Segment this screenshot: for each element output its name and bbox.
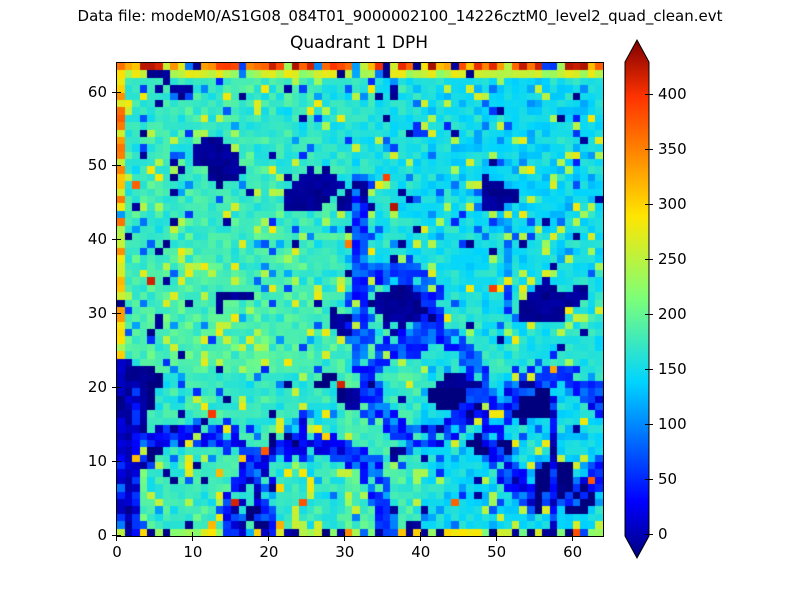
y-tick-mark-inner: [117, 461, 121, 462]
x-tick-mark: [572, 536, 573, 541]
x-tick-label: 20: [244, 544, 294, 561]
y-tick-label: 60: [67, 84, 107, 101]
y-tick-mark-inner: [117, 535, 121, 536]
colorbar-tick-mark: [645, 534, 653, 535]
x-tick-label: 30: [320, 544, 370, 561]
y-tick-label: 0: [67, 527, 107, 544]
colorbar-tick-mark: [645, 314, 653, 315]
x-tick-label: 40: [396, 544, 446, 561]
figure-canvas: Data file: modeM0/AS1G08_084T01_90000021…: [0, 0, 800, 600]
x-tick-label: 50: [472, 544, 522, 561]
colorbar-tick-mark: [645, 204, 653, 205]
y-tick-mark-inner: [117, 239, 121, 240]
dph-heatmap-image[interactable]: [117, 63, 603, 536]
y-tick-label: 30: [67, 305, 107, 322]
x-tick-mark: [420, 536, 421, 541]
x-tick-label: 60: [548, 544, 598, 561]
y-tick-mark-inner: [117, 165, 121, 166]
colorbar-tick-label: 300: [658, 196, 718, 213]
colorbar-tick-label: 400: [658, 86, 718, 103]
colorbar-tick-mark: [645, 369, 653, 370]
colorbar-tick-label: 250: [658, 251, 718, 268]
heatmap-axes[interactable]: 0102030405060 0102030405060: [116, 62, 604, 537]
y-tick-mark-inner: [117, 92, 121, 93]
y-tick-mark-inner: [117, 387, 121, 388]
y-tick-label: 50: [67, 157, 107, 174]
colorbar-tick-mark: [645, 94, 653, 95]
x-tick-mark: [192, 536, 193, 541]
x-tick-mark: [496, 536, 497, 541]
x-tick-mark: [268, 536, 269, 541]
colorbar-tick-mark: [645, 259, 653, 260]
colorbar-tick-label: 350: [658, 141, 718, 158]
colorbar-gradient: [624, 40, 650, 558]
colorbar-tick-label: 200: [658, 306, 718, 323]
x-tick-mark-inner: [192, 532, 193, 536]
colorbar-tick-mark: [645, 424, 653, 425]
y-tick-label: 20: [67, 379, 107, 396]
colorbar-tick-mark: [645, 149, 653, 150]
x-tick-mark-inner: [116, 532, 117, 536]
colorbar-tick-mark: [645, 479, 653, 480]
x-tick-mark: [344, 536, 345, 541]
x-tick-mark: [116, 536, 117, 541]
page-title: Quadrant 1 DPH: [116, 33, 602, 53]
x-tick-label: 0: [92, 544, 142, 561]
data-file-caption: Data file: modeM0/AS1G08_084T01_90000021…: [0, 7, 800, 25]
x-tick-label: 10: [168, 544, 218, 561]
x-tick-mark-inner: [344, 532, 345, 536]
x-tick-mark-inner: [268, 532, 269, 536]
y-tick-mark-inner: [117, 313, 121, 314]
x-tick-mark-inner: [496, 532, 497, 536]
x-tick-mark-inner: [572, 532, 573, 536]
y-tick-label: 40: [67, 231, 107, 248]
y-tick-label: 10: [67, 453, 107, 470]
x-tick-mark-inner: [420, 532, 421, 536]
colorbar[interactable]: 050100150200250300350400: [625, 62, 649, 535]
colorbar-tick-label: 0: [658, 526, 718, 543]
colorbar-tick-label: 50: [658, 471, 718, 488]
colorbar-tick-label: 100: [658, 416, 718, 433]
colorbar-tick-label: 150: [658, 361, 718, 378]
